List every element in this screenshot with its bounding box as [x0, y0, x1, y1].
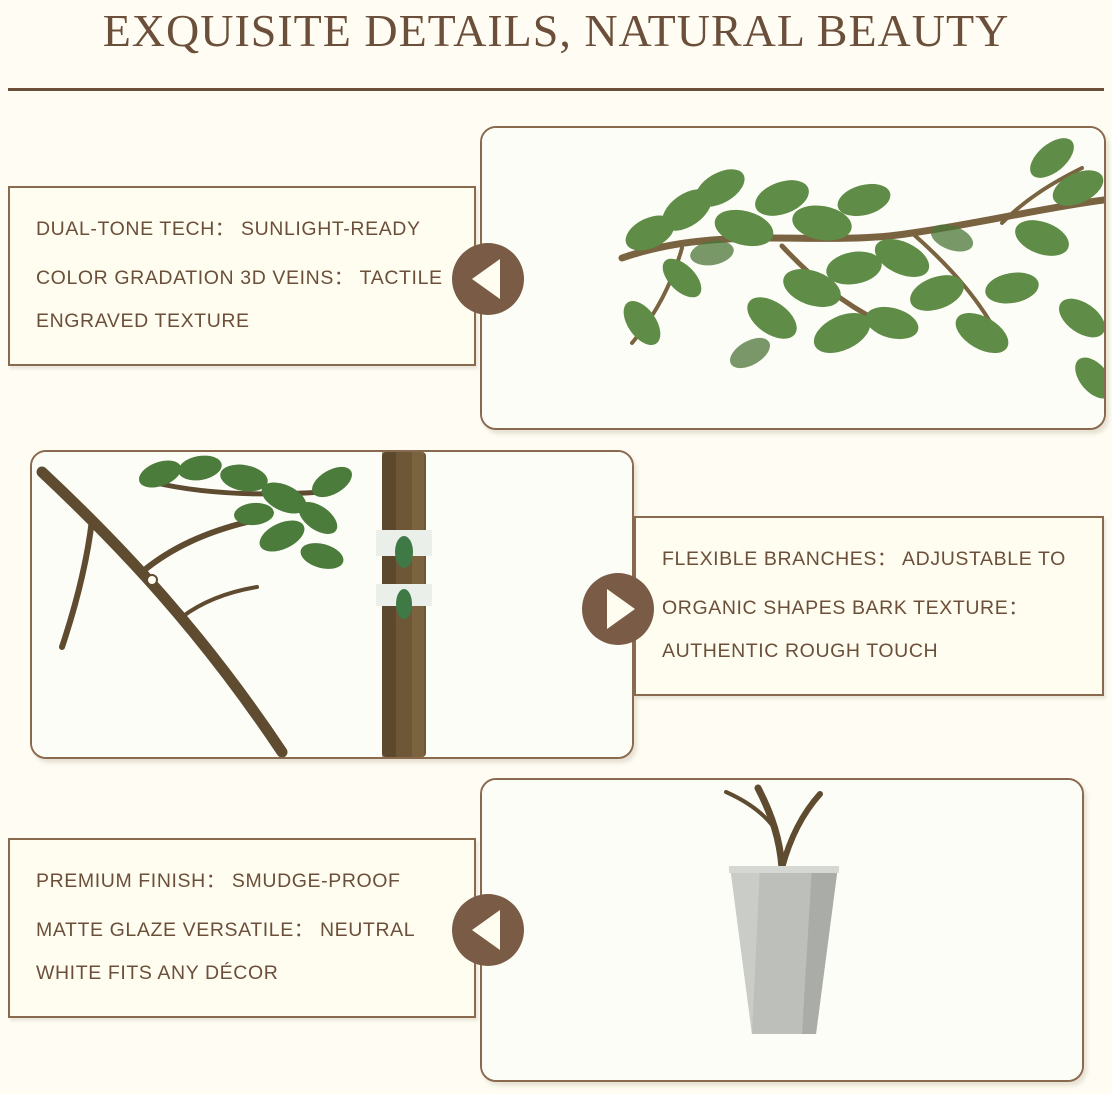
finish-line-2: MATTE GLAZE VERSATILE： NEUTRAL [36, 913, 448, 942]
finish-line-3: WHITE FITS ANY DÉCOR [36, 962, 448, 985]
dual-tone-text-card: DUAL-TONE TECH： SUNLIGHT-READY COLOR GRA… [8, 186, 476, 366]
arrow-left-glyph [472, 259, 500, 299]
arrow-left-glyph [472, 910, 500, 950]
arrow-right-icon[interactable] [582, 573, 654, 645]
branches-illustration [32, 452, 632, 757]
dual-tone-line-3: ENGRAVED TEXTURE [36, 310, 448, 333]
dual-tone-line-2: COLOR GRADATION 3D VEINS： TACTILE [36, 261, 448, 290]
arrow-left-icon[interactable] [452, 894, 524, 966]
branches-photo [30, 450, 634, 759]
flexible-line-2: ORGANIC SHAPES BARK TEXTURE： [662, 591, 1076, 620]
pot-illustration [482, 780, 1082, 1080]
flexible-line-3: AUTHENTIC ROUGH TOUCH [662, 640, 1076, 663]
flexible-line-1: FLEXIBLE BRANCHES： ADJUSTABLE TO [662, 542, 1076, 571]
premium-finish-text-card: PREMIUM FINISH： SMUDGE-PROOF MATTE GLAZE… [8, 838, 476, 1018]
pot-photo [480, 778, 1084, 1082]
header-divider [8, 88, 1104, 91]
arrow-left-icon[interactable] [452, 243, 524, 315]
finish-line-1: PREMIUM FINISH： SMUDGE-PROOF [36, 864, 448, 893]
foliage-photo [480, 126, 1106, 430]
page-title: EXQUISITE DETAILS, NATURAL BEAUTY [0, 4, 1112, 57]
flexible-branches-text-card: FLEXIBLE BRANCHES： ADJUSTABLE TO ORGANIC… [634, 516, 1104, 696]
dual-tone-line-1: DUAL-TONE TECH： SUNLIGHT-READY [36, 212, 448, 241]
arrow-right-glyph [607, 589, 635, 629]
foliage-illustration [482, 128, 1104, 428]
